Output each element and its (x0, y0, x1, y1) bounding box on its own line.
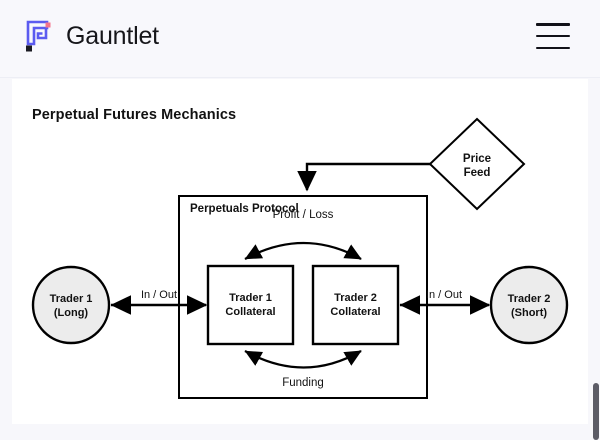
perpetual-futures-diagram: Price Feed Perpetuals Protocol Trader 1 … (12, 79, 588, 424)
gauntlet-g-logo-icon (24, 19, 54, 53)
collateral1-label-line2: Collateral (225, 306, 275, 318)
trader2-label-line2: (Short) (511, 307, 547, 319)
brand[interactable]: Gauntlet (24, 19, 159, 53)
menu-line-2 (536, 35, 570, 38)
in-out-right-label: In / Out (426, 289, 462, 301)
profit-loss-label: Profit / Loss (273, 209, 334, 221)
node-price-feed: Price Feed (430, 119, 524, 209)
price-feed-label-line2: Feed (464, 167, 491, 179)
node-trader2-short: Trader 2 (Short) (491, 267, 567, 343)
diagram-card: Perpetual Futures Mechanics Price Feed (12, 79, 588, 424)
trader1-label-line1: Trader 1 (50, 293, 93, 305)
menu-line-1 (536, 23, 570, 26)
brand-name: Gauntlet (66, 22, 159, 51)
app-header: Gauntlet (0, 0, 600, 78)
scrollbar-thumb[interactable] (593, 383, 599, 440)
node-trader1-long: Trader 1 (Long) (33, 267, 109, 343)
node-trader2-collateral: Trader 2 Collateral (313, 266, 398, 344)
in-out-left-label: In / Out (141, 289, 177, 301)
collateral2-label-line2: Collateral (330, 306, 380, 318)
funding-label: Funding (282, 377, 324, 389)
collateral2-label-line1: Trader 2 (334, 292, 377, 304)
trader1-label-line2: (Long) (54, 307, 89, 319)
hamburger-menu-icon[interactable] (536, 23, 570, 49)
node-trader1-collateral: Trader 1 Collateral (208, 266, 293, 344)
menu-line-3 (536, 47, 570, 50)
collateral1-label-line1: Trader 1 (229, 292, 272, 304)
trader2-label-line1: Trader 2 (508, 293, 551, 305)
edge-price-feed-to-protocol (307, 164, 430, 190)
price-feed-label-line1: Price (463, 153, 491, 165)
page-scrollbar[interactable] (592, 0, 599, 440)
